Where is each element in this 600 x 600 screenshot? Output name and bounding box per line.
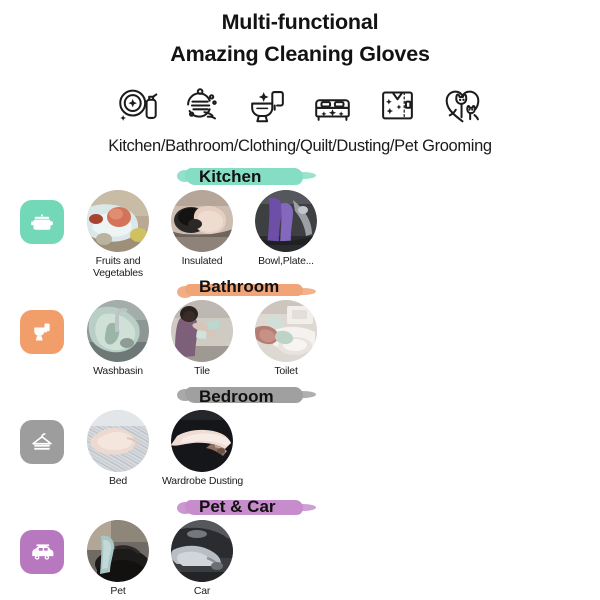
thumbnail-item[interactable]: Fruits and Vegetables <box>87 190 149 279</box>
category-tile-bedroom[interactable] <box>20 420 64 464</box>
product-infographic: Multi-functional Amazing Cleaning Gloves <box>0 0 600 600</box>
thumbnail-caption: Washbasin <box>87 366 149 378</box>
photo-glove-dusting-dark-wardrobe <box>171 410 233 472</box>
thumbnail-caption: Car <box>171 586 233 598</box>
thumbnail-item[interactable]: Tile <box>171 300 233 378</box>
folded-shirt-icon <box>374 82 421 128</box>
thumbnail-item[interactable]: Washbasin <box>87 300 149 378</box>
thumbnail-item[interactable]: Bed <box>87 410 149 488</box>
thumbnail-caption: Pet <box>87 586 149 598</box>
section-bathroom: Bathroom <box>0 275 600 385</box>
section-label-bedroom: Bedroom <box>199 385 274 408</box>
photo-gloved-hand-holding-hot-pan <box>171 190 233 252</box>
category-tile-pet-car[interactable] <box>20 530 64 574</box>
thumbnail-list-bedroom: Bed <box>87 410 250 488</box>
photo-person-wiping-wall-tile <box>171 300 233 362</box>
thumbnail-caption: Tile <box>171 366 233 378</box>
section-label-pet-car: Pet & Car <box>199 495 276 518</box>
plate-spray-bottle-icon <box>114 82 161 128</box>
page-title-line2: Amazing Cleaning Gloves <box>0 39 600 69</box>
thumbnail-item[interactable]: Pet <box>87 520 149 598</box>
car-van-icon <box>29 539 55 565</box>
thumbnail-caption: Insulated <box>171 256 233 268</box>
thumbnail-caption: Wardrobe Dusting <box>155 476 250 488</box>
bed-icon <box>309 82 356 128</box>
washing-hands-icon <box>179 82 226 128</box>
thumbnail-item[interactable]: Wardrobe Dusting <box>155 410 250 488</box>
header: Multi-functional Amazing Cleaning Gloves <box>0 0 600 156</box>
section-label-bathroom: Bathroom <box>199 275 279 298</box>
section-heading-bedroom: Bedroom <box>185 385 305 409</box>
thumbnail-item[interactable]: Insulated <box>171 190 233 279</box>
cooking-pot-icon <box>29 209 55 235</box>
thumbnail-item[interactable]: Bowl,Plate... <box>255 190 317 279</box>
thumbnail-list-bathroom: Washbasin <box>87 300 317 378</box>
section-pet-car: Pet & Car <box>0 495 600 590</box>
feature-icon-row <box>0 80 600 128</box>
page-title-line1: Multi-functional <box>0 7 600 37</box>
section-heading-bathroom: Bathroom <box>185 275 305 299</box>
category-tile-kitchen[interactable] <box>20 200 64 244</box>
pet-dog-cat-heart-icon <box>439 82 486 128</box>
thumbnail-caption: Toilet <box>255 366 317 378</box>
thumbnail-list-pet-car: Pet <box>87 520 233 598</box>
clothes-hanger-icon <box>29 429 55 455</box>
photo-purple-gloves-washing-dishes <box>255 190 317 252</box>
toilet-icon <box>29 319 55 345</box>
thumbnail-caption: Bed <box>87 476 149 488</box>
section-bedroom: Bedroom <box>0 385 600 495</box>
photo-gloved-hands-cleaning-faucet <box>87 300 149 362</box>
photo-gloved-hand-washing-produce <box>87 190 149 252</box>
tagline: Kitchen/Bathroom/Clothing/Quilt/Dusting/… <box>0 137 600 156</box>
toilet-sparkle-icon <box>244 82 291 128</box>
category-tile-bathroom[interactable] <box>20 310 64 354</box>
section-kitchen: Kitchen <box>0 165 600 275</box>
section-label-kitchen: Kitchen <box>199 165 261 188</box>
photo-glove-grooming-black-dog <box>87 520 149 582</box>
section-heading-kitchen: Kitchen <box>185 165 305 189</box>
photo-gloved-hand-on-mattress <box>87 410 149 472</box>
thumbnail-item[interactable]: Car <box>171 520 233 598</box>
thumbnail-caption: Bowl,Plate... <box>255 256 317 268</box>
photo-gloved-hands-cleaning-toilet <box>255 300 317 362</box>
thumbnail-item[interactable]: Toilet <box>255 300 317 378</box>
section-heading-pet-car: Pet & Car <box>185 495 305 519</box>
photo-glove-cleaning-car-interior <box>171 520 233 582</box>
thumbnail-list-kitchen: Fruits and Vegetables <box>87 190 317 279</box>
category-sections: Kitchen <box>0 165 600 590</box>
